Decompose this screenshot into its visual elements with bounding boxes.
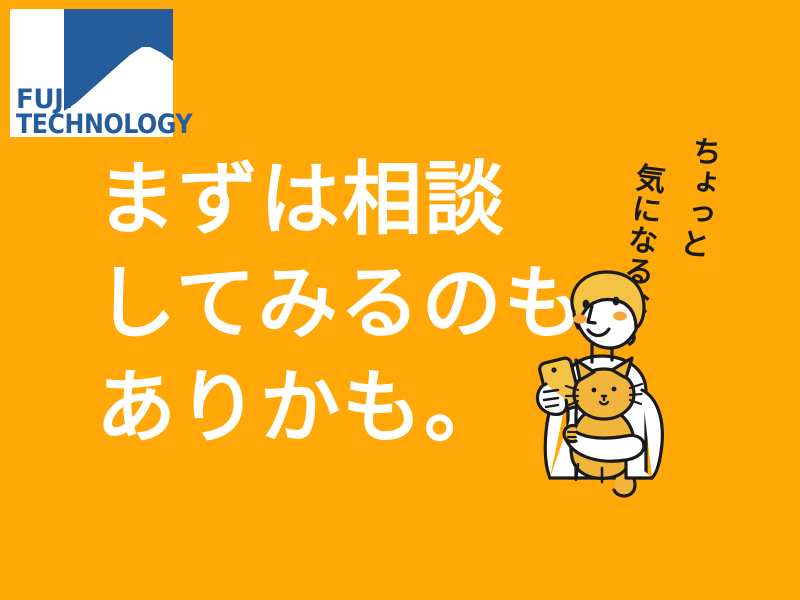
logo-wordmark: FUJI TECHNOLOGY: [16, 88, 184, 138]
eye-left: [583, 300, 590, 309]
logo-wordmark-line2: TECHNOLOGY: [16, 113, 164, 138]
person-with-cat-and-smartphone-illustration: [506, 268, 696, 500]
promo-banner: FUJI TECHNOLOGY まずは相談 してみるのも ありかも。 ちょっと …: [0, 0, 800, 600]
blush-left: [573, 314, 587, 323]
blush-right: [613, 311, 627, 320]
vertical-copy-right: ちょっと: [671, 134, 722, 262]
headline-line-1: まずは相談: [96, 148, 586, 252]
fuji-technology-logo[interactable]: FUJI TECHNOLOGY: [10, 9, 173, 137]
eye-right: [613, 297, 620, 306]
